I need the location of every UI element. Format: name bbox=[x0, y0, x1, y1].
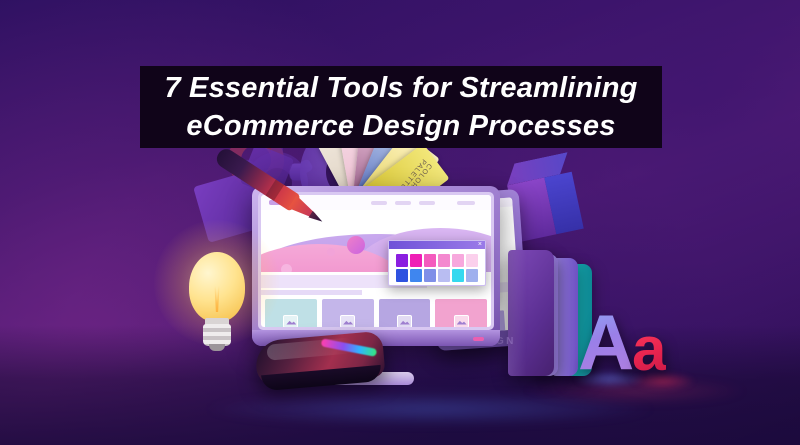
image-placeholder-icon bbox=[397, 315, 412, 328]
power-led-indicator bbox=[473, 337, 484, 341]
popup-title-bar[interactable] bbox=[389, 241, 485, 249]
color-swatch[interactable] bbox=[410, 254, 422, 267]
color-swatch[interactable] bbox=[396, 269, 408, 282]
color-swatch[interactable] bbox=[452, 269, 464, 282]
color-swatch[interactable] bbox=[438, 269, 450, 282]
computer-mouse bbox=[254, 324, 391, 397]
light-bulb-icon bbox=[186, 250, 248, 358]
letter-a-lowercase: a bbox=[632, 320, 666, 380]
image-placeholder-icon bbox=[340, 315, 355, 328]
color-swatch[interactable] bbox=[424, 254, 436, 267]
mockup-card bbox=[379, 299, 431, 327]
color-swatch[interactable] bbox=[410, 269, 422, 282]
typography-letters: A a bbox=[578, 306, 698, 384]
letter-a-uppercase: A bbox=[578, 306, 634, 378]
close-icon[interactable]: × bbox=[478, 241, 482, 249]
image-placeholder-icon bbox=[283, 315, 298, 328]
color-swatch[interactable] bbox=[396, 254, 408, 267]
page-title-line-2: eCommerce Design Processes bbox=[186, 107, 615, 145]
color-swatch[interactable] bbox=[438, 254, 450, 267]
image-placeholder-icon bbox=[454, 315, 469, 328]
color-swatch[interactable] bbox=[452, 254, 464, 267]
hero-banner-image: COLOR PALETTE × bbox=[0, 0, 800, 445]
color-swatch[interactable] bbox=[466, 254, 478, 267]
mockup-card bbox=[322, 299, 374, 327]
color-palette-popup[interactable]: × bbox=[388, 240, 486, 286]
color-swatch[interactable] bbox=[424, 269, 436, 282]
mockup-card bbox=[435, 299, 487, 327]
color-swatch[interactable] bbox=[466, 269, 478, 282]
page-title-line-1: 7 Essential Tools for Streamlining bbox=[164, 69, 637, 107]
title-banner: 7 Essential Tools for Streamlining eComm… bbox=[140, 66, 662, 148]
